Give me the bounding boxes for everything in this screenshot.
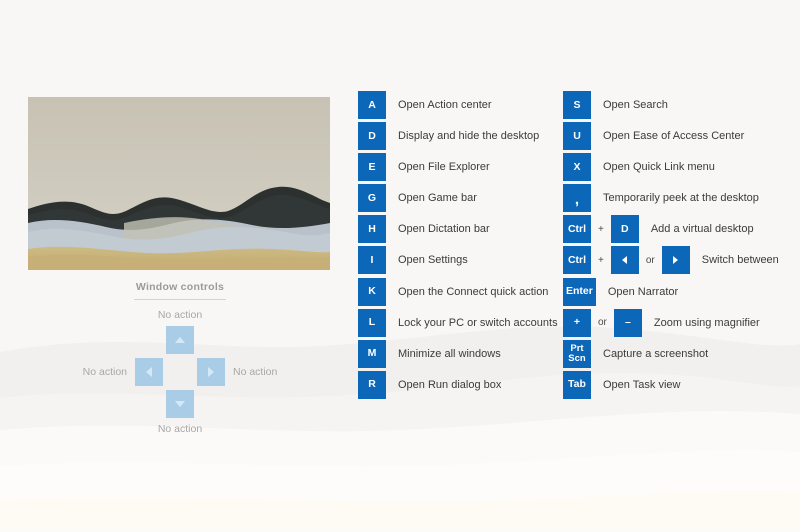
shortcut-row: UOpen Ease of Access Center [563, 122, 798, 150]
shortcut-keys: U [563, 122, 591, 150]
shortcut-keys: X [563, 153, 591, 181]
shortcut-description: Open the Connect quick action [386, 286, 548, 298]
shortcut-description: Lock your PC or switch accounts [386, 317, 558, 329]
dpad-middle-row: No action No action [60, 358, 300, 386]
key-joiner: or [639, 255, 662, 266]
shortcut-keys: , [563, 184, 591, 212]
window-controls-divider [134, 299, 226, 300]
key-tile-ctrl[interactable]: Ctrl [563, 215, 591, 243]
shortcut-description: Open Action center [386, 99, 492, 111]
dpad-down-label: No action [60, 423, 300, 435]
dpad-left-label: No action [49, 366, 135, 378]
arrow-right-icon [673, 256, 678, 264]
dpad-down-key[interactable] [166, 390, 194, 418]
key-tile-i[interactable]: I [358, 246, 386, 274]
shortcut-list-column-2: SOpen SearchUOpen Ease of Access CenterX… [563, 91, 798, 402]
key-tile-d[interactable]: D [358, 122, 386, 150]
shortcut-description: Open Narrator [596, 286, 678, 298]
shortcut-row: XOpen Quick Link menu [563, 153, 798, 181]
shortcut-row: ,Temporarily peek at the desktop [563, 184, 798, 212]
shortcut-row: ROpen Run dialog box [358, 371, 558, 399]
shortcut-row: EnterOpen Narrator [563, 278, 798, 306]
shortcut-keys: G [358, 184, 386, 212]
key-tile-d[interactable]: D [611, 215, 639, 243]
key-tile-s[interactable]: S [563, 91, 591, 119]
dpad-right-label: No action [225, 366, 311, 378]
shortcut-keys: I [358, 246, 386, 274]
shortcut-description: Open Settings [386, 254, 468, 266]
key-tile-tab[interactable]: Tab [563, 371, 591, 399]
key-tile-u[interactable]: U [563, 122, 591, 150]
key-tile-r[interactable]: R [358, 371, 386, 399]
arrow-right-icon [208, 367, 214, 377]
shortcut-keys: Ctrl+or [563, 246, 690, 274]
key-tile-line2: Scn [568, 354, 585, 364]
dpad-bottom-row [60, 390, 300, 418]
window-controls-section: Window controls No action No action No a… [60, 281, 300, 435]
window-controls-title: Window controls [60, 281, 300, 293]
key-tile-m[interactable]: M [358, 340, 386, 368]
key-tile-arrow-right[interactable] [662, 246, 690, 274]
key-tile-enter[interactable]: Enter [563, 278, 596, 306]
key-joiner: + [591, 255, 611, 266]
shortcut-row: EOpen File Explorer [358, 153, 558, 181]
shortcut-description: Display and hide the desktop [386, 130, 539, 142]
shortcut-keys: M [358, 340, 386, 368]
shortcut-keys: PrtScn [563, 340, 591, 368]
dpad-up-label: No action [60, 309, 300, 321]
shortcut-keys: S [563, 91, 591, 119]
key-tile--[interactable]: – [614, 309, 642, 337]
shortcut-keys: Tab [563, 371, 591, 399]
shortcut-description: Open Run dialog box [386, 379, 501, 391]
key-tile--[interactable]: + [563, 309, 591, 337]
shortcut-description: Open Quick Link menu [591, 161, 715, 173]
shortcut-keys: H [358, 215, 386, 243]
key-tile-ctrl[interactable]: Ctrl [563, 246, 591, 274]
shortcut-description: Switch between [690, 254, 779, 266]
dpad-right-key[interactable] [197, 358, 225, 386]
shortcut-description: Add a virtual desktop [639, 223, 754, 235]
shortcut-description: Open Search [591, 99, 668, 111]
shortcut-row: +or–Zoom using magnifier [563, 309, 798, 337]
dpad-center-gap [163, 358, 197, 386]
dpad-top-row [60, 326, 300, 354]
shortcut-description: Open Dictation bar [386, 223, 490, 235]
arrow-left-icon [622, 256, 627, 264]
key-tile-k[interactable]: K [358, 278, 386, 306]
shortcut-row: AOpen Action center [358, 91, 558, 119]
shortcut-description: Capture a screenshot [591, 348, 708, 360]
shortcut-keys: +or– [563, 309, 642, 337]
shortcut-description: Temporarily peek at the desktop [591, 192, 759, 204]
shortcut-description: Minimize all windows [386, 348, 501, 360]
arrow-down-icon [175, 401, 185, 407]
shortcut-row: HOpen Dictation bar [358, 215, 558, 243]
arrow-up-icon [175, 337, 185, 343]
shortcut-row: DDisplay and hide the desktop [358, 122, 558, 150]
shortcut-row: KOpen the Connect quick action [358, 278, 558, 306]
shortcut-keys: R [358, 371, 386, 399]
shortcut-keys: D [358, 122, 386, 150]
shortcut-description: Zoom using magnifier [642, 317, 760, 329]
key-tile-a[interactable]: A [358, 91, 386, 119]
key-tile-g[interactable]: G [358, 184, 386, 212]
shortcut-description: Open File Explorer [386, 161, 490, 173]
shortcut-description: Open Ease of Access Center [591, 130, 744, 142]
wallpaper-thumbnail[interactable] [28, 97, 330, 270]
shortcut-keys: E [358, 153, 386, 181]
dpad-up-key[interactable] [166, 326, 194, 354]
key-tile-arrow-left[interactable] [611, 246, 639, 274]
key-tile-comma[interactable]: , [563, 184, 591, 212]
shortcut-row: GOpen Game bar [358, 184, 558, 212]
key-joiner: or [591, 317, 614, 328]
dpad-left-key[interactable] [135, 358, 163, 386]
shortcut-keys: A [358, 91, 386, 119]
shortcut-row: TabOpen Task view [563, 371, 798, 399]
shortcut-description: Open Task view [591, 379, 680, 391]
arrow-left-icon [146, 367, 152, 377]
key-tile-e[interactable]: E [358, 153, 386, 181]
shortcut-row: Ctrl+orSwitch between [563, 246, 798, 274]
shortcut-row: Ctrl+DAdd a virtual desktop [563, 215, 798, 243]
shortcut-list-column-1: AOpen Action centerDDisplay and hide the… [358, 91, 558, 402]
shortcut-row: PrtScnCapture a screenshot [563, 340, 798, 368]
wallpaper-thumbnail-image [28, 97, 330, 270]
key-tile-h[interactable]: H [358, 215, 386, 243]
shortcut-description: Open Game bar [386, 192, 477, 204]
shortcut-row: LLock your PC or switch accounts [358, 309, 558, 337]
key-tile-l[interactable]: L [358, 309, 386, 337]
shortcut-row: MMinimize all windows [358, 340, 558, 368]
shortcut-row: IOpen Settings [358, 246, 558, 274]
shortcut-keys: K [358, 278, 386, 306]
shortcut-keys: Ctrl+D [563, 215, 639, 243]
key-tile-prt-scn[interactable]: PrtScn [563, 340, 591, 368]
key-tile-x[interactable]: X [563, 153, 591, 181]
shortcut-keys: L [358, 309, 386, 337]
shortcut-keys: Enter [563, 278, 596, 306]
shortcut-row: SOpen Search [563, 91, 798, 119]
key-joiner: + [591, 224, 611, 235]
